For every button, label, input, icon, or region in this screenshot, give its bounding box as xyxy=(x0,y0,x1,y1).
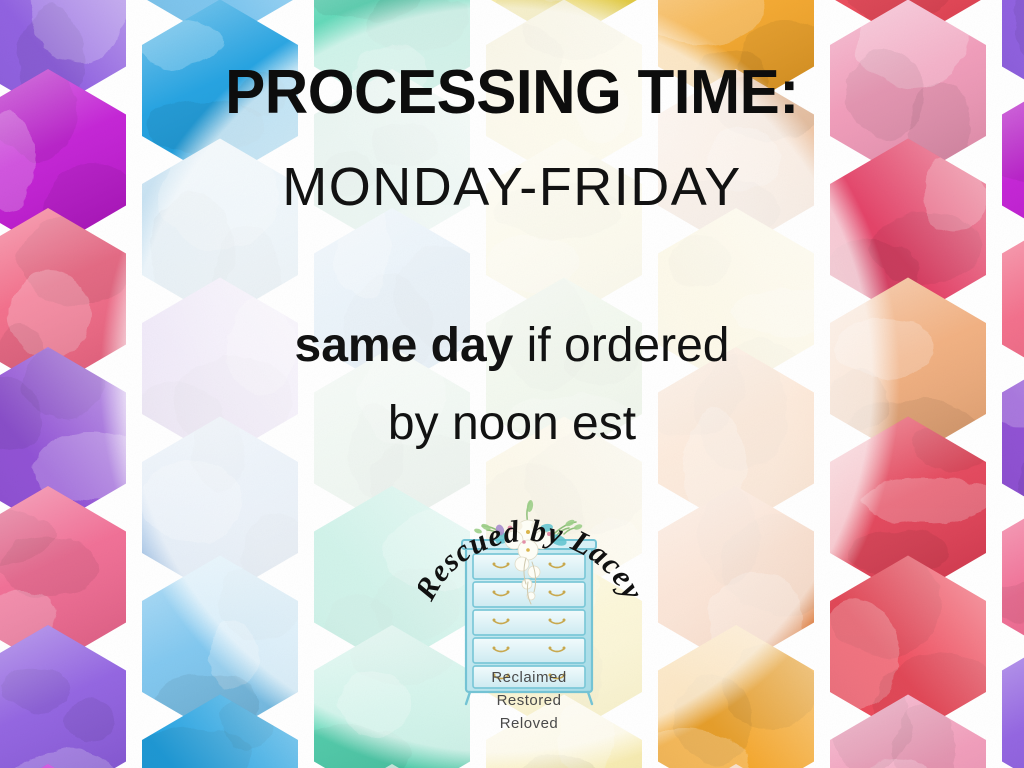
page-title: PROCESSING TIME: xyxy=(15,62,1008,124)
body-line-two: by noon est xyxy=(0,400,1024,448)
processing-time-banner: PROCESSING TIME: MONDAY-FRIDAY same day … xyxy=(0,0,1024,768)
content-layer: PROCESSING TIME: MONDAY-FRIDAY same day … xyxy=(0,0,1024,768)
tagline-reclaimed: Reclaimed xyxy=(418,670,640,685)
if-ordered-text: if ordered xyxy=(513,319,729,372)
tagline-restored: Restored xyxy=(418,693,640,708)
subtitle-days: MONDAY-FRIDAY xyxy=(0,160,1024,214)
same-day-emphasis: same day xyxy=(295,319,514,372)
body-line-one: same day if ordered xyxy=(0,322,1024,370)
tagline-reloved: Reloved xyxy=(418,716,640,731)
